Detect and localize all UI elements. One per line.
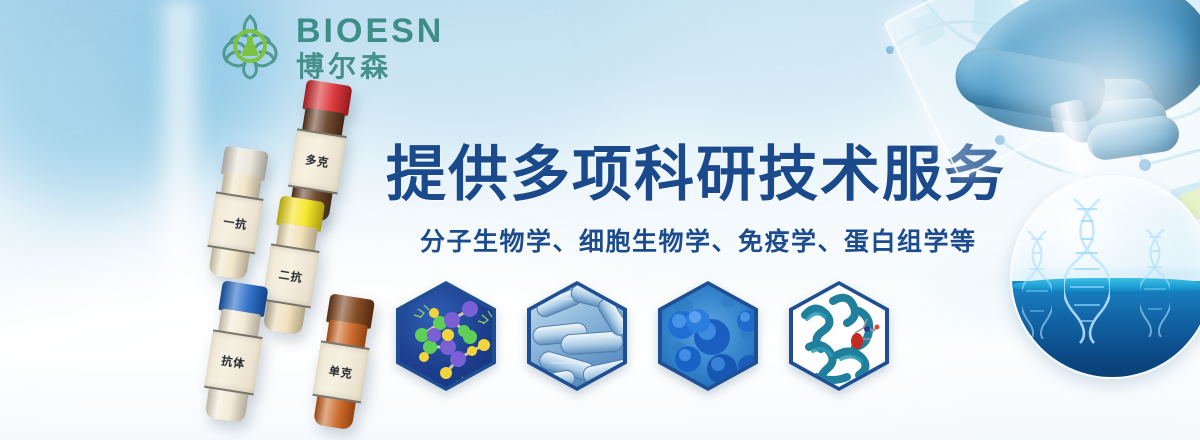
vial-label-text: 单克 bbox=[328, 362, 354, 382]
page-subtitle: 分子生物学、细胞生物学、免疫学、蛋白组学等 bbox=[420, 222, 977, 258]
brand-name-en: BIOESN bbox=[296, 14, 444, 48]
vial-label-text: 多克 bbox=[304, 151, 330, 171]
promo-banner: BIOESN 博尔森 一抗 多克 二抗 抗体 单克 bbox=[0, 0, 1200, 440]
vial-label: 抗体 bbox=[204, 329, 262, 395]
vial-label: 一抗 bbox=[208, 191, 264, 254]
dna-helix-icon bbox=[1140, 227, 1170, 337]
dna-helix-icon bbox=[1064, 195, 1110, 345]
hex-bacteria[interactable] bbox=[527, 281, 627, 391]
service-hexagon-row bbox=[396, 281, 889, 391]
hex-cells[interactable] bbox=[658, 281, 758, 391]
vial-label-text: 一抗 bbox=[222, 213, 248, 233]
logo-flask-emblem-icon bbox=[214, 10, 286, 82]
background-light-stripe bbox=[150, 0, 210, 300]
vial-label-text: 二抗 bbox=[278, 266, 304, 286]
brand-logo[interactable]: BIOESN 博尔森 bbox=[214, 8, 484, 84]
flask-bulb bbox=[1010, 175, 1200, 379]
vial-label: 多克 bbox=[288, 128, 346, 194]
hex-molecular-model[interactable] bbox=[396, 281, 496, 391]
hex-protein[interactable] bbox=[789, 281, 889, 391]
dna-helix-icon bbox=[1022, 229, 1052, 339]
flask-with-dna bbox=[1010, 175, 1200, 380]
vial-label: 单克 bbox=[313, 340, 370, 404]
brand-name-cn: 博尔森 bbox=[296, 53, 444, 81]
vial-label-text: 抗体 bbox=[220, 352, 246, 372]
vial-label: 二抗 bbox=[262, 243, 319, 308]
